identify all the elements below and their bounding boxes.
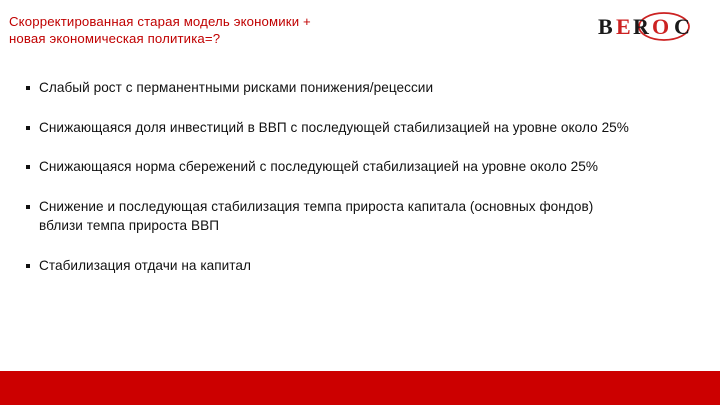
list-item: Стабилизация отдачи на капитал	[0, 256, 720, 276]
bullet-square-icon	[26, 205, 30, 209]
logo-letter-b: B	[598, 14, 613, 39]
bullet-square-icon	[26, 165, 30, 169]
bullet-square-icon	[26, 264, 30, 268]
slide: Скорректированная старая модель экономик…	[0, 0, 720, 405]
page-title: Скорректированная старая модель экономик…	[9, 13, 539, 48]
footer-accent-bar	[0, 371, 720, 405]
beroc-logo: B E R O C	[595, 10, 703, 44]
list-item: Снижение и последующая стабилизация темп…	[0, 197, 720, 236]
logo-letter-c: C	[674, 14, 690, 39]
list-item-label: Снижающаяся доля инвестиций в ВВП с посл…	[39, 118, 647, 138]
list-item-label: Снижающаяся норма сбережений с последующ…	[39, 157, 689, 177]
list-item: Снижающаяся норма сбережений с последующ…	[0, 157, 720, 177]
bullet-square-icon	[26, 86, 30, 90]
logo-letter-r: R	[633, 14, 650, 39]
list-item-label: Снижение и последующая стабилизация темп…	[39, 197, 629, 236]
list-item-label: Слабый рост с перманентными рисками пони…	[39, 78, 585, 98]
logo-letter-e: E	[616, 14, 631, 39]
slide-header: Скорректированная старая модель экономик…	[0, 0, 720, 58]
list-item: Снижающаяся доля инвестиций в ВВП с посл…	[0, 118, 720, 138]
bullet-list: Слабый рост с перманентными рисками пони…	[0, 78, 720, 275]
bullet-square-icon	[26, 126, 30, 130]
logo-letter-o: O	[652, 14, 669, 39]
beroc-logo-icon: B E R O C	[595, 10, 703, 44]
list-item-label: Стабилизация отдачи на капитал	[39, 256, 585, 276]
list-item: Слабый рост с перманентными рисками пони…	[0, 78, 720, 98]
